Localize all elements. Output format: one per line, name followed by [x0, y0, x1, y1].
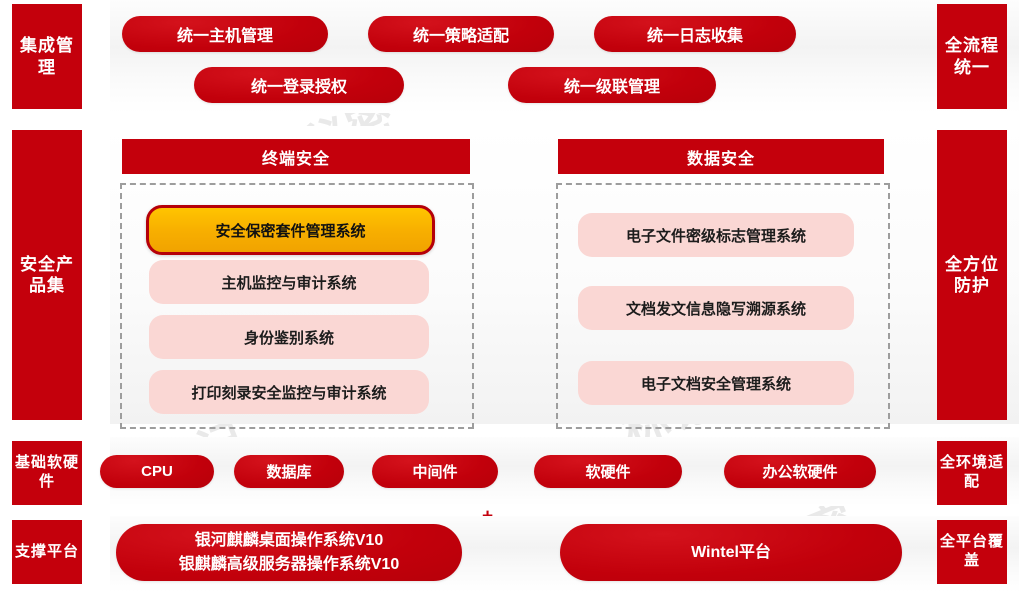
- row-label-text: 基础软硬件: [12, 454, 82, 492]
- row-benefit-text: 全方位防护: [937, 254, 1007, 297]
- row-benefit-infrastructure: 全环境适配: [937, 441, 1007, 505]
- row-label-text: 集成管理: [12, 35, 82, 78]
- product-chip-efile-classification-label-system[interactable]: 电子文件密级标志管理系统: [578, 213, 854, 257]
- pill-kylin-operating-systems[interactable]: 银河麒麟桌面操作系统V10 银麒麟高级服务器操作系统V10: [116, 524, 462, 581]
- kylin-os-line-2: 银麒麟高级服务器操作系统V10: [179, 553, 399, 576]
- row-label-text: 支撑平台: [15, 543, 79, 562]
- pill-unified-log-collection[interactable]: 统一日志收集: [594, 16, 796, 52]
- pill-office-software-hardware[interactable]: 办公软硬件: [724, 455, 876, 488]
- row-label-infrastructure: 基础软硬件: [12, 441, 82, 505]
- pill-unified-policy-adaptation[interactable]: 统一策略适配: [368, 16, 554, 52]
- pill-unified-login-authorization[interactable]: 统一登录授权: [194, 67, 404, 103]
- row-benefit-security-product-suite: 全方位防护: [937, 130, 1007, 420]
- row-benefit-integration-management: 全流程统一: [937, 4, 1007, 109]
- product-chip-print-burn-monitoring-audit-system[interactable]: 打印刻录安全监控与审计系统: [149, 370, 429, 414]
- pill-wintel-platform[interactable]: Wintel平台: [560, 524, 902, 581]
- architecture-diagram: 秘密 标记 秘密 标记 集成管理 全流程统一 统一主机管理 统一策略适配 统一日…: [0, 0, 1019, 592]
- row-label-support-platform: 支撑平台: [12, 520, 82, 584]
- product-chip-security-suite-management-system[interactable]: 安全保密套件管理系统: [146, 205, 435, 255]
- row-label-text: 安全产品集: [12, 254, 82, 297]
- pill-unified-cascade-management[interactable]: 统一级联管理: [508, 67, 716, 103]
- pill-database[interactable]: 数据库: [234, 455, 344, 488]
- group-header-endpoint-security: 终端安全: [122, 139, 470, 174]
- row-benefit-support-platform: 全平台覆盖: [937, 520, 1007, 584]
- pill-cpu[interactable]: CPU: [100, 455, 214, 488]
- product-chip-document-steganography-tracing-system[interactable]: 文档发文信息隐写溯源系统: [578, 286, 854, 330]
- row-benefit-text: 全平台覆盖: [937, 533, 1007, 571]
- kylin-os-line-1: 银河麒麟桌面操作系统V10: [195, 529, 383, 552]
- pill-software-hardware[interactable]: 软硬件: [534, 455, 682, 488]
- pill-middleware[interactable]: 中间件: [372, 455, 498, 488]
- row-label-security-product-suite: 安全产品集: [12, 130, 82, 420]
- group-header-data-security: 数据安全: [558, 139, 884, 174]
- pill-unified-host-management[interactable]: 统一主机管理: [122, 16, 328, 52]
- product-chip-identity-authentication-system[interactable]: 身份鉴别系统: [149, 315, 429, 359]
- row-benefit-text: 全流程统一: [937, 35, 1007, 78]
- row-label-integration-management: 集成管理: [12, 4, 82, 109]
- product-chip-host-monitoring-audit-system[interactable]: 主机监控与审计系统: [149, 260, 429, 304]
- row-benefit-text: 全环境适配: [937, 454, 1007, 492]
- product-chip-edocument-security-management-system[interactable]: 电子文档安全管理系统: [578, 361, 854, 405]
